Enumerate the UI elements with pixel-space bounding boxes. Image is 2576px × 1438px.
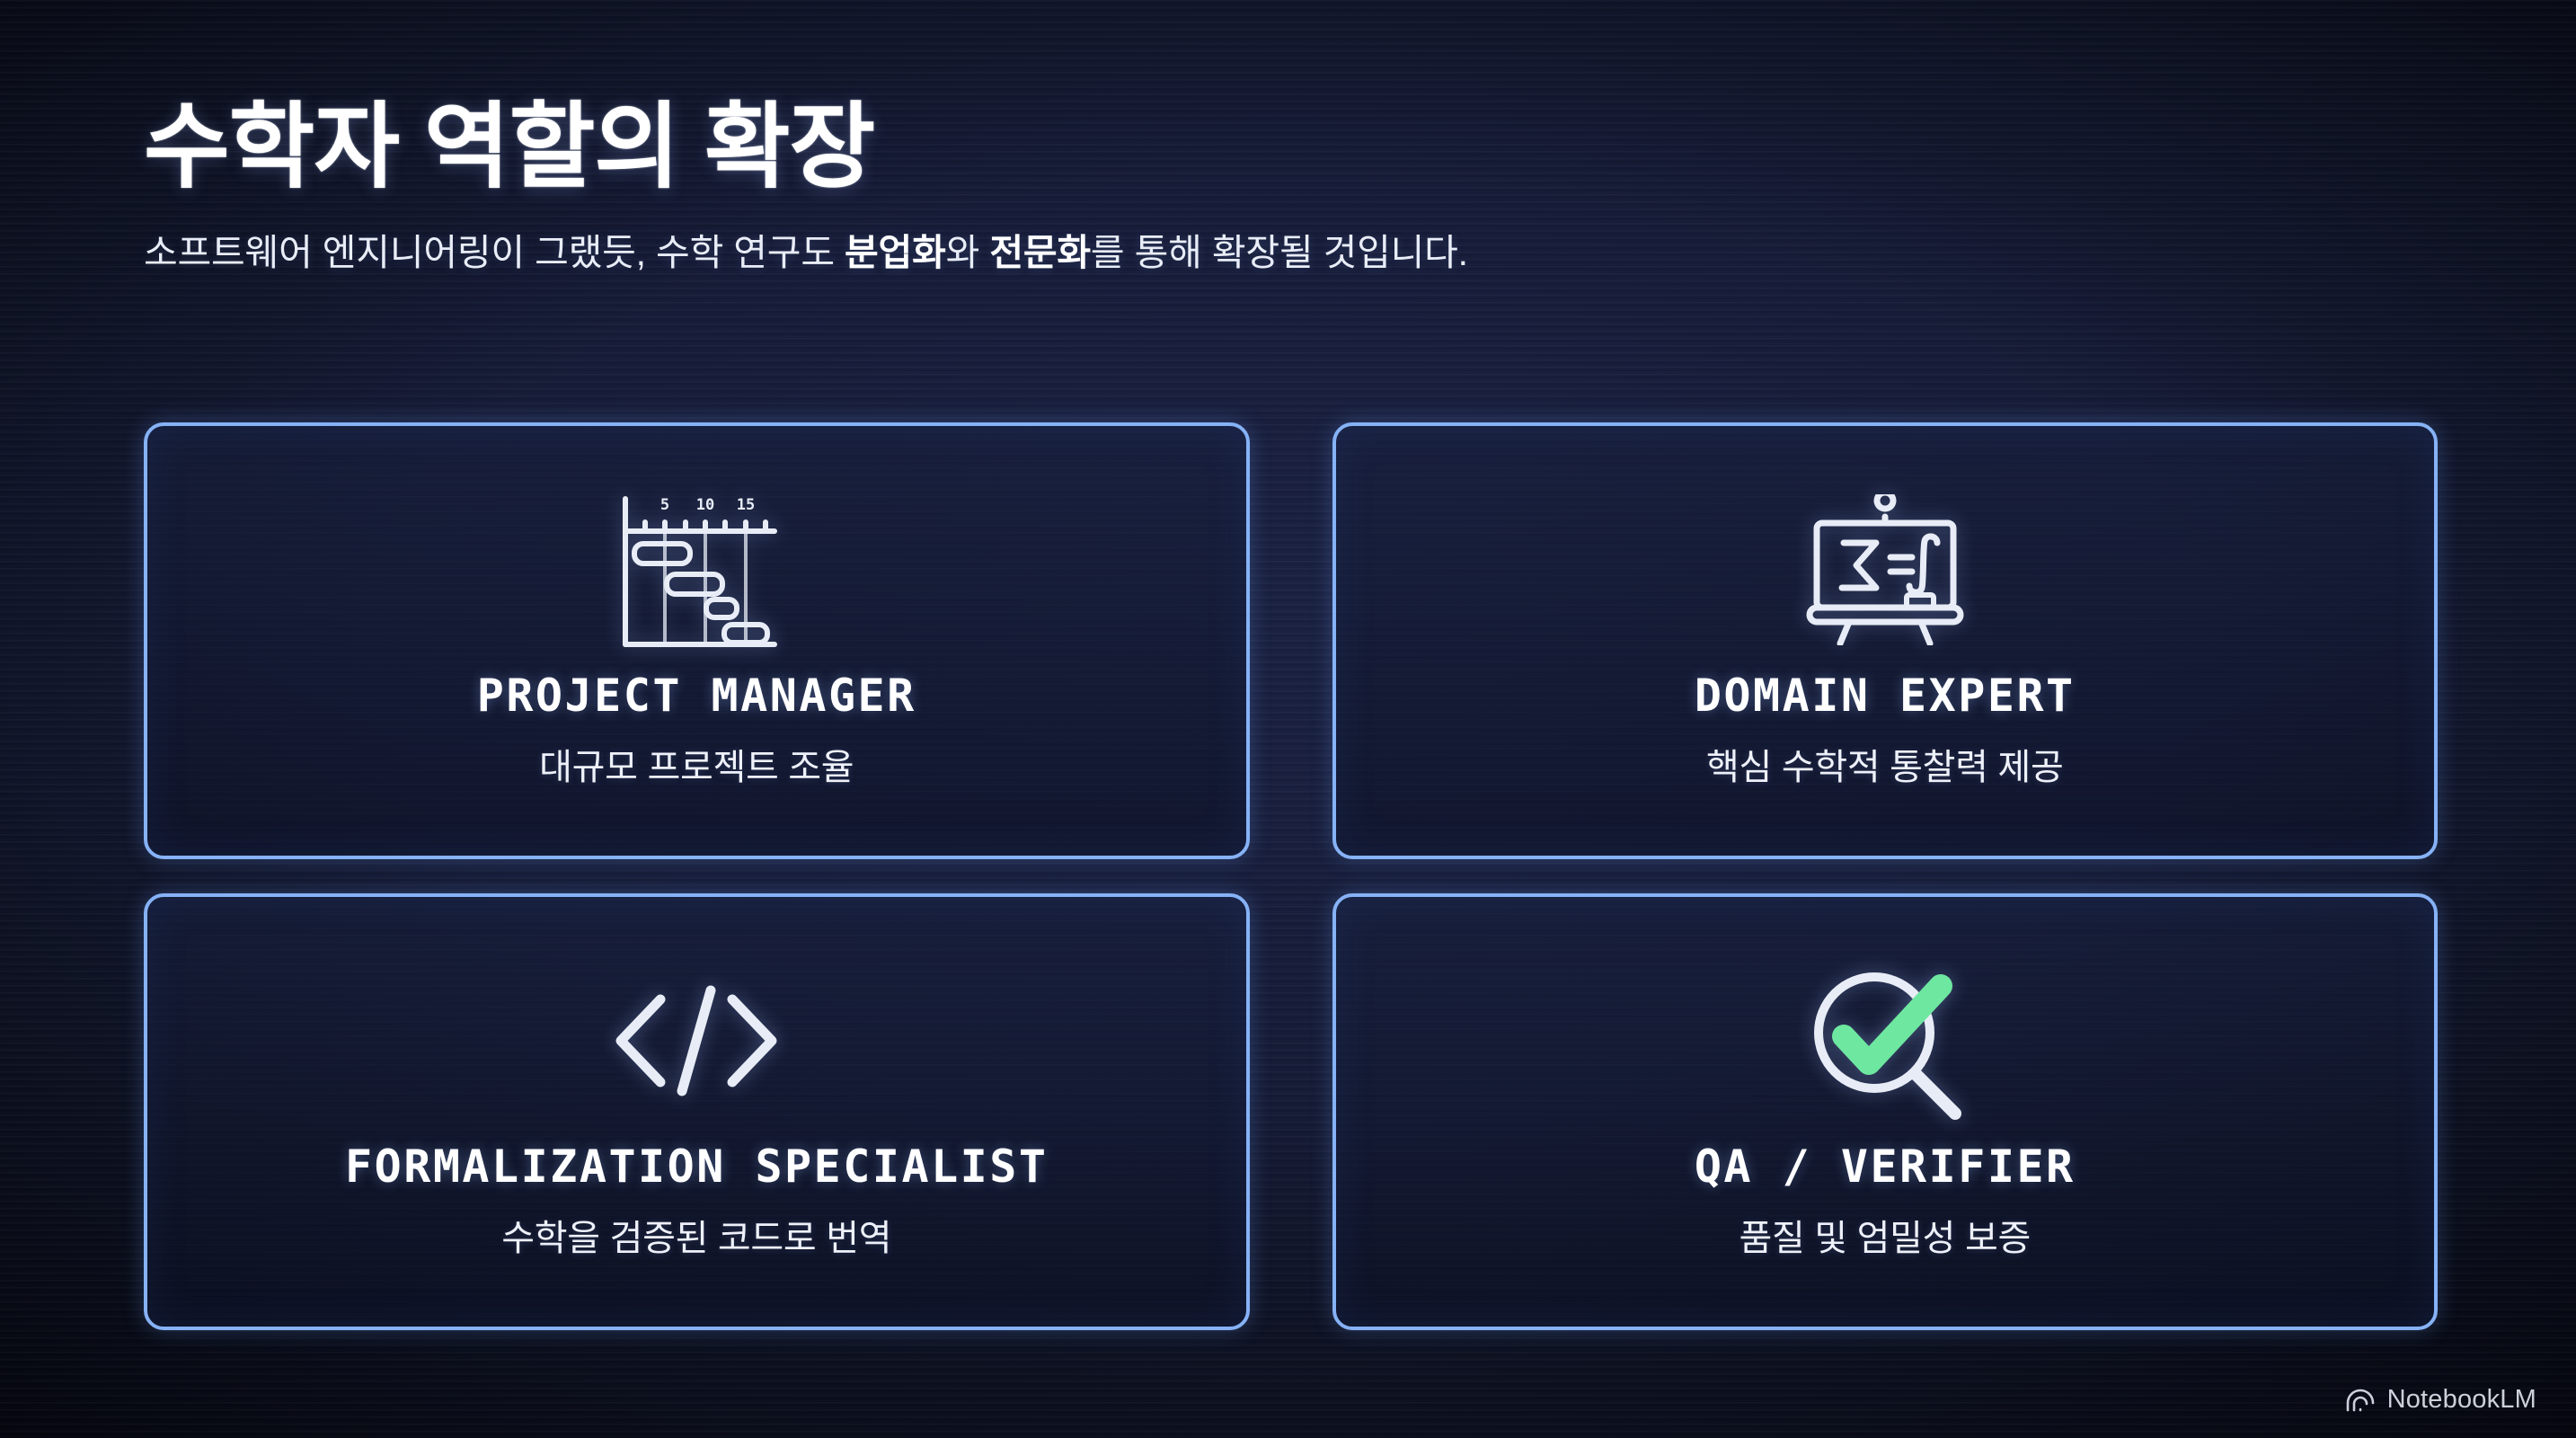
- magnifier-check-icon: [1797, 955, 1973, 1126]
- card-domain-expert[interactable]: DOMAIN EXPERT 핵심 수학적 통찰력 제공: [1332, 422, 2439, 859]
- card-title-domain-expert: DOMAIN EXPERT: [1695, 670, 2076, 722]
- code-brackets-icon: [601, 955, 792, 1126]
- notebooklm-arc-icon: [2345, 1388, 2376, 1413]
- card-subtitle-formalization-specialist: 수학을 검증된 코드로 번역: [501, 1209, 891, 1261]
- subtitle-seg-3: 와: [946, 232, 990, 273]
- gantt-tick-label-10: 10: [696, 496, 714, 514]
- subtitle-seg-2-bold: 분업화: [845, 232, 946, 273]
- whiteboard-formula-icon: [1797, 484, 1973, 655]
- card-title-formalization-specialist: FORMALIZATION SPECIALIST: [345, 1141, 1048, 1193]
- subtitle-seg-1: 소프트웨어 엔지니어링이 그랬듯, 수학 연구도: [144, 232, 845, 273]
- subtitle-seg-4-bold: 전문화: [989, 232, 1091, 273]
- gantt-tick-label-15: 15: [737, 496, 755, 514]
- card-qa-verifier[interactable]: QA / VERIFIER 품질 및 엄밀성 보증: [1332, 893, 2439, 1330]
- card-subtitle-project-manager: 대규모 프로젝트 조율: [539, 738, 854, 790]
- notebooklm-label: NotebookLM: [2387, 1385, 2536, 1415]
- subtitle-seg-5: 를 통해 확장될 것입니다.: [1091, 232, 1468, 273]
- notebooklm-watermark: NotebookLM: [2345, 1385, 2536, 1415]
- gantt-tick-label-5: 5: [660, 496, 669, 514]
- page-title: 수학자 역할의 확장: [144, 97, 2444, 198]
- card-project-manager[interactable]: 5 10 15: [144, 422, 1250, 859]
- card-title-project-manager: PROJECT MANAGER: [477, 670, 916, 722]
- gantt-chart-icon: 5 10 15: [613, 484, 780, 655]
- role-card-grid: 5 10 15: [144, 422, 2438, 1330]
- card-subtitle-domain-expert: 핵심 수학적 통찰력 제공: [1706, 738, 2063, 790]
- card-subtitle-qa-verifier: 품질 및 엄밀성 보증: [1739, 1209, 2031, 1261]
- slide-header: 수학자 역할의 확장 소프트웨어 엔지니어링이 그랬듯, 수학 연구도 분업화와…: [144, 97, 2444, 279]
- page-subtitle: 소프트웨어 엔지니어링이 그랬듯, 수학 연구도 분업화와 전문화를 통해 확장…: [144, 228, 2444, 278]
- slide-root: 수학자 역할의 확장 소프트웨어 엔지니어링이 그랬듯, 수학 연구도 분업화와…: [0, 0, 2576, 1438]
- card-title-qa-verifier: QA / VERIFIER: [1695, 1141, 2076, 1193]
- card-formalization-specialist[interactable]: FORMALIZATION SPECIALIST 수학을 검증된 코드로 번역: [144, 893, 1250, 1330]
